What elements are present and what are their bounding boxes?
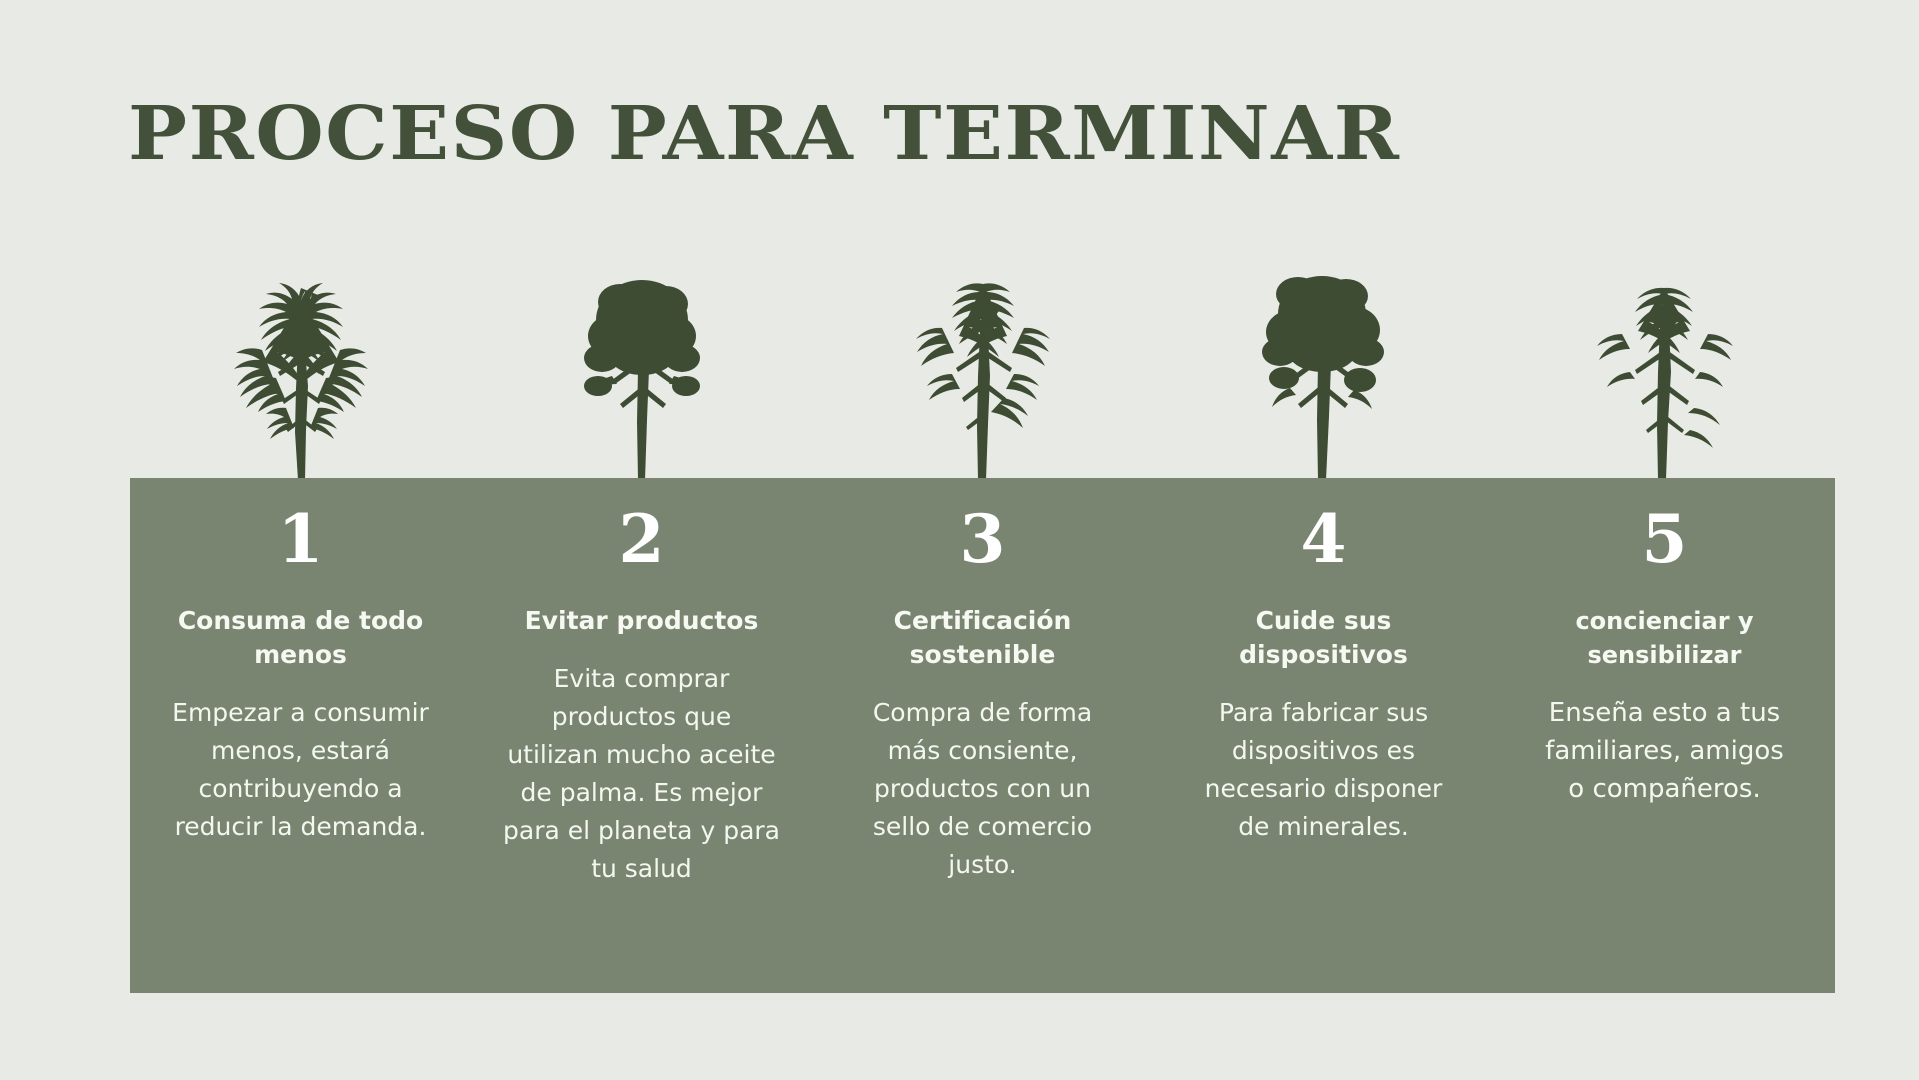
page-title: PROCESO PARA TERMINAR <box>128 92 1400 176</box>
step-body: Compra de forma más consiente, productos… <box>849 694 1117 884</box>
step-body: Enseña esto a tus familiares, amigos o c… <box>1536 694 1794 808</box>
tree-silhouette-icon <box>908 258 1058 480</box>
step-number: 3 <box>960 506 1006 572</box>
step-number: 2 <box>619 506 665 572</box>
step-column-5: 5 concienciar y sensibilizar Enseña esto… <box>1494 478 1835 993</box>
step-body: Evita comprar productos que utilizan muc… <box>503 660 781 888</box>
tree-silhouette-icon <box>572 258 712 480</box>
tree-slot-1 <box>130 258 471 480</box>
infographic-poster: PROCESO PARA TERMINAR <box>0 0 1919 1080</box>
step-heading: Consuma de todo menos <box>166 604 436 672</box>
step-body: Para fabricar sus dispositivos es necesa… <box>1198 694 1450 846</box>
step-column-3: 3 Certificación sostenible Compra de for… <box>812 478 1153 993</box>
tree-silhouette-icon <box>1254 258 1394 480</box>
step-number: 5 <box>1642 506 1688 572</box>
tree-slot-4 <box>1153 258 1494 480</box>
step-column-2: 2 Evitar productos Evita comprar product… <box>471 478 812 993</box>
step-column-1: 1 Consuma de todo menos Empezar a consum… <box>130 478 471 993</box>
step-heading: Certificación sostenible <box>848 604 1118 672</box>
step-column-4: 4 Cuide sus dispositivos Para fabricar s… <box>1153 478 1494 993</box>
step-heading: Cuide sus dispositivos <box>1189 604 1459 672</box>
tree-slot-3 <box>812 258 1153 480</box>
tree-silhouette-icon <box>1590 258 1740 480</box>
step-number: 1 <box>278 506 324 572</box>
tree-slot-5 <box>1494 258 1835 480</box>
tree-slot-2 <box>471 258 812 480</box>
step-heading: Evitar productos <box>525 604 759 638</box>
tree-illustration-row <box>130 258 1835 480</box>
tree-silhouette-icon <box>226 258 376 480</box>
steps-panel: 1 Consuma de todo menos Empezar a consum… <box>130 478 1835 993</box>
step-heading: concienciar y sensibilizar <box>1530 604 1800 672</box>
step-body: Empezar a consumir menos, estará contrib… <box>170 694 432 846</box>
step-number: 4 <box>1301 506 1347 572</box>
